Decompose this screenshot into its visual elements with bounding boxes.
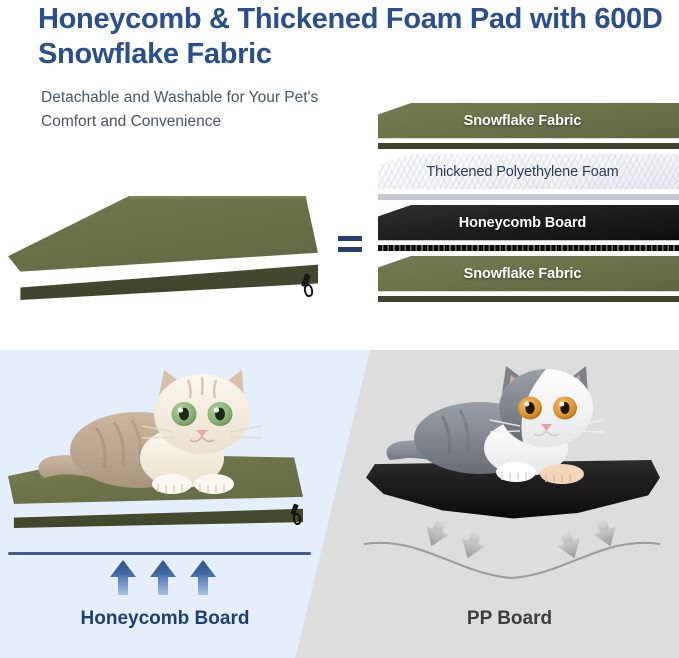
layer-label: Honeycomb Board xyxy=(378,215,667,231)
down-arrow-icon xyxy=(455,527,488,565)
zipper-icon xyxy=(300,274,316,300)
layer-polyethylene-foam: Thickened Polyethylene Foam xyxy=(378,154,679,206)
down-arrow-icon xyxy=(553,527,586,565)
flat-surface-line xyxy=(8,552,311,555)
up-arrow-icon xyxy=(190,560,216,594)
layer-honeycomb-board: Honeycomb Board xyxy=(378,205,679,257)
up-arrow-icon xyxy=(110,560,136,594)
layer-label: Thickened Polyethylene Foam xyxy=(378,164,667,180)
layer-snowflake-fabric-top: Snowflake Fabric xyxy=(378,103,679,155)
exploded-layer-stack: Snowflake Fabric Thickened Polyethylene … xyxy=(378,103,679,311)
label-honeycomb-board: Honeycomb Board xyxy=(0,608,330,630)
grey-cat-illustration xyxy=(380,364,630,492)
upward-support-arrows xyxy=(110,560,220,596)
comparison-left-honeycomb: Honeycomb Board xyxy=(0,350,340,658)
zipper-icon xyxy=(290,504,304,528)
layer-label: Snowflake Fabric xyxy=(378,113,667,129)
page-subtitle: Detachable and Washable for Your Pet's C… xyxy=(41,86,371,134)
product-layers-section: Honeycomb & Thickened Foam Pad with 600D… xyxy=(0,0,679,350)
equals-icon xyxy=(338,236,362,256)
comparison-section: Honeycomb Board xyxy=(0,350,679,658)
downward-pressure-arrows xyxy=(362,518,662,568)
product-pad-illustration xyxy=(8,196,318,311)
page-title: Honeycomb & Thickened Foam Pad with 600D… xyxy=(38,2,668,73)
up-arrow-icon xyxy=(150,560,176,594)
layer-label: Snowflake Fabric xyxy=(378,266,667,282)
cream-cat-illustration xyxy=(30,366,290,496)
down-arrow-icon xyxy=(589,515,622,553)
comparison-right-pp-board: PP Board xyxy=(340,350,679,658)
label-pp-board: PP Board xyxy=(340,608,679,630)
layer-snowflake-fabric-bottom: Snowflake Fabric xyxy=(378,256,679,308)
down-arrow-icon xyxy=(419,515,452,553)
